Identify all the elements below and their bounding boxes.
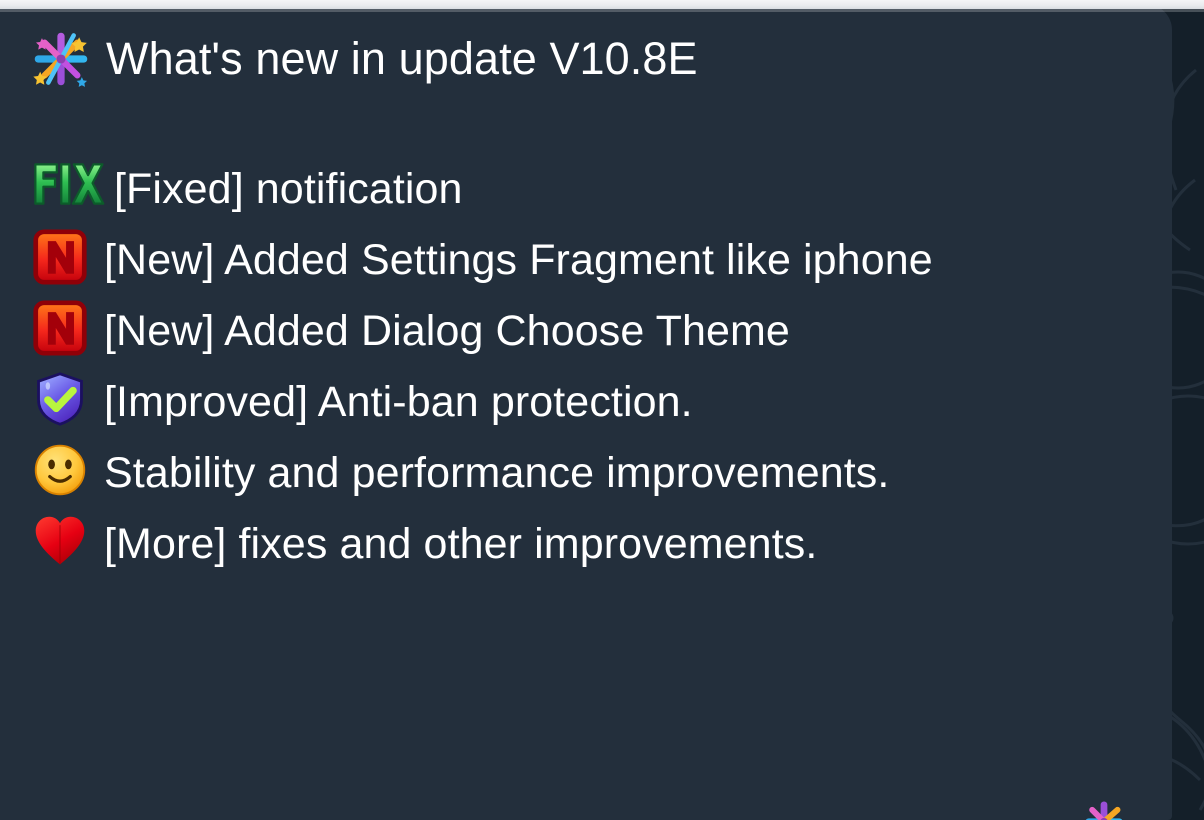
list-item: [Fixed] notification bbox=[30, 154, 1138, 225]
changelog-list: [Fixed] notification bbox=[30, 154, 1138, 580]
list-item-text: [New] Added Dialog Choose Theme bbox=[104, 307, 790, 355]
list-item: [New] Added Dialog Choose Theme bbox=[30, 296, 1138, 367]
new-letter-n-icon bbox=[30, 300, 90, 356]
new-letter-n-icon bbox=[30, 229, 90, 285]
list-item: [Improved] Anti-ban protection. bbox=[30, 367, 1138, 438]
list-item-text: [New] Added Settings Fragment like iphon… bbox=[104, 236, 933, 284]
list-item: Stability and performance improvements. bbox=[30, 438, 1138, 509]
shield-check-icon bbox=[30, 371, 90, 427]
list-item-text: [More] fixes and other improvements. bbox=[104, 520, 817, 568]
list-item: [More] fixes and other improvements. bbox=[30, 509, 1138, 580]
message-content: What's new in update V10.8E bbox=[30, 30, 1138, 580]
panel-edge-above bbox=[0, 0, 1204, 9]
confetti-burst-partial-icon bbox=[1075, 793, 1133, 820]
list-item-text: [Improved] Anti-ban protection. bbox=[104, 378, 693, 426]
message-title-row: What's new in update V10.8E bbox=[30, 30, 1138, 88]
list-item-text: [Fixed] notification bbox=[114, 165, 463, 213]
page-title: What's new in update V10.8E bbox=[106, 30, 698, 88]
message-bubble[interactable]: What's new in update V10.8E bbox=[0, 4, 1172, 820]
slightly-smiling-face-icon bbox=[30, 442, 90, 498]
red-heart-icon bbox=[30, 513, 90, 569]
confetti-burst-icon bbox=[30, 30, 92, 88]
chat-screen: What's new in update V10.8E bbox=[0, 0, 1204, 820]
list-item-text: Stability and performance improvements. bbox=[104, 449, 889, 497]
list-item: [New] Added Settings Fragment like iphon… bbox=[30, 225, 1138, 296]
fix-icon bbox=[30, 156, 114, 212]
